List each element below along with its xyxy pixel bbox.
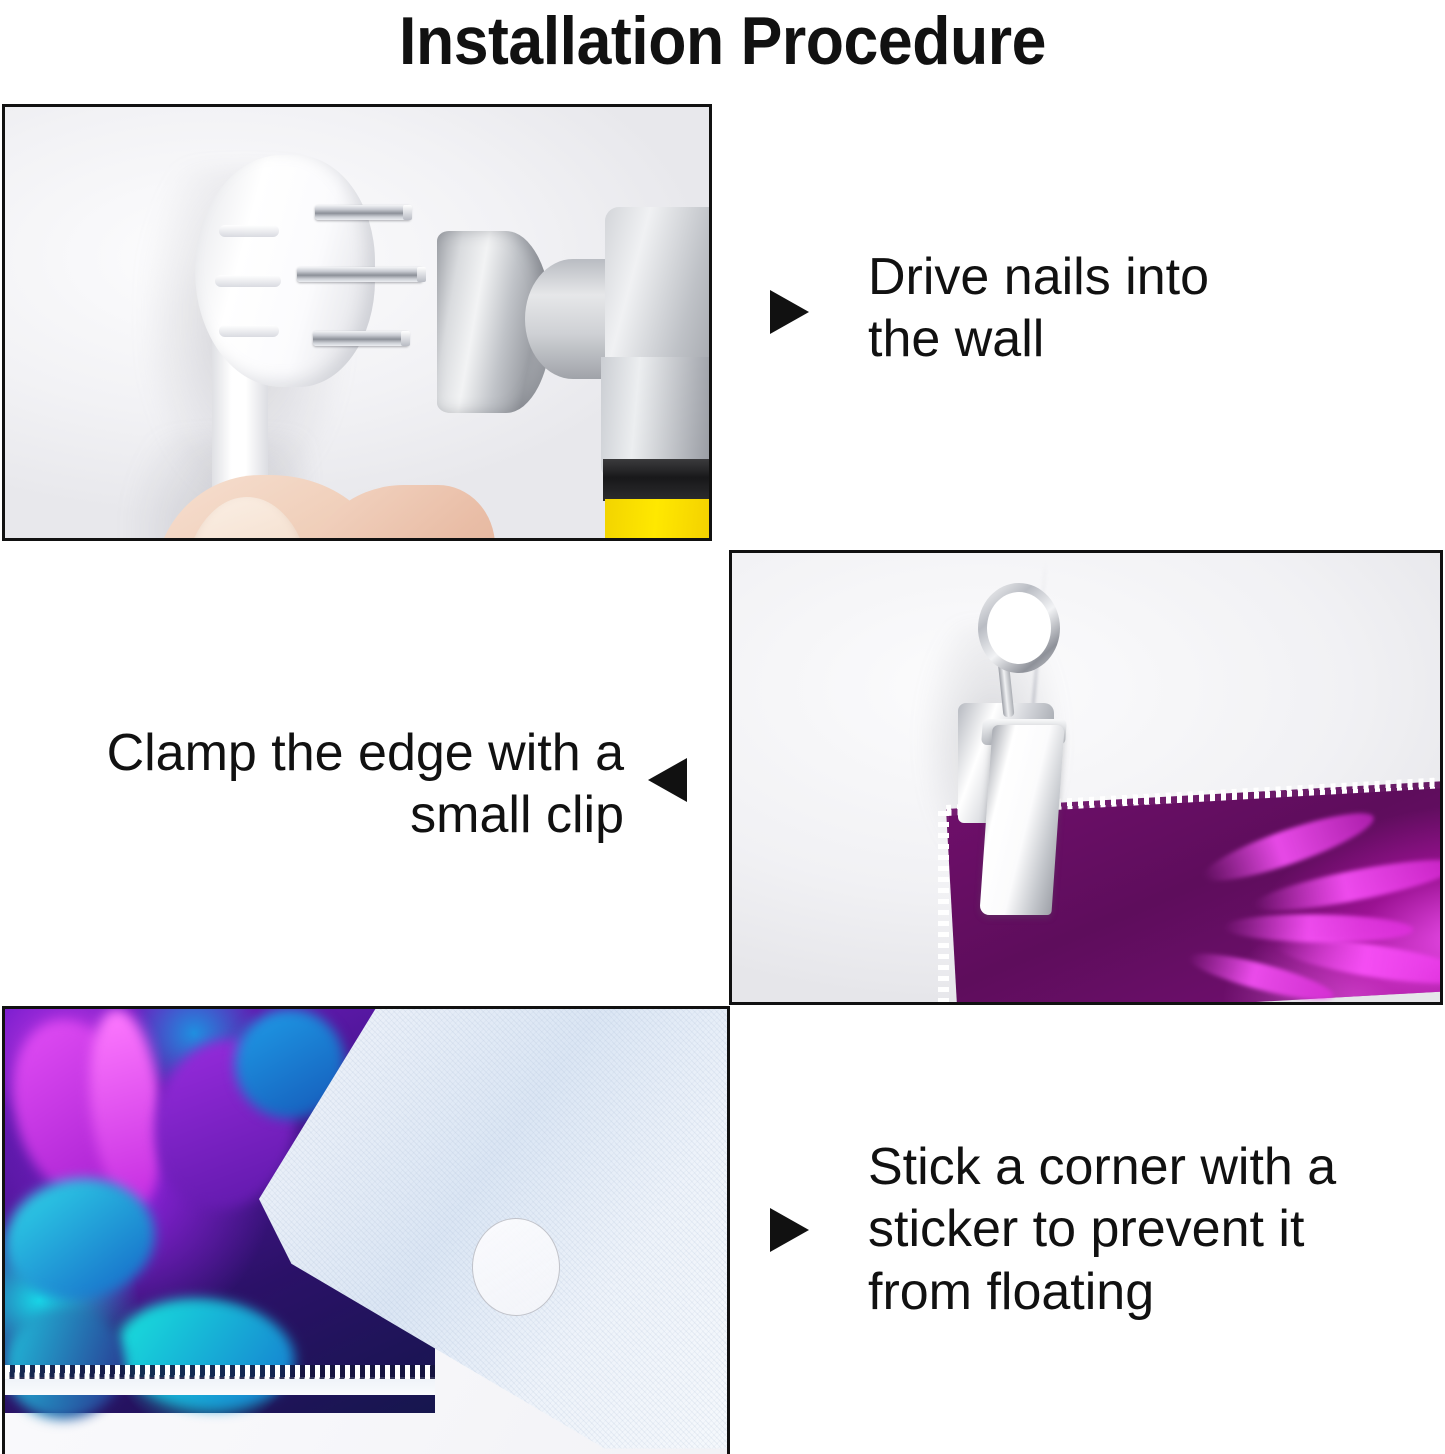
callout-stick-corner-text: Stick a corner with a sticker to prevent… [868, 1136, 1388, 1323]
hammer-handle [605, 499, 712, 541]
page-title: Installation Procedure [58, 2, 1387, 80]
photo-drive-nails [2, 104, 712, 541]
nail-bottom [313, 331, 409, 346]
arrow-right-icon [770, 290, 809, 334]
clip-hanging-ring [978, 583, 1060, 673]
tapestry-hem-band [5, 1377, 435, 1395]
tapestry-hem-stitching [5, 1365, 435, 1379]
hook-ridge [219, 325, 279, 337]
installation-procedure-infographic: Installation Procedure [0, 0, 1445, 1454]
nail-top [315, 205, 411, 220]
nail-middle [297, 267, 423, 282]
photo-stick-corner-content [5, 1009, 727, 1454]
nail-middle-tip [417, 267, 426, 282]
hook-ridge [219, 225, 279, 237]
tapestry-swirl [110, 1290, 301, 1418]
nail-top-tip [403, 205, 412, 220]
tapestry-swirl [2, 1298, 135, 1431]
hammer-ferrule [603, 459, 712, 501]
callout-clamp-edge-text: Clamp the edge with a small clip [46, 722, 624, 847]
adhesive-sticker [472, 1218, 560, 1316]
photo-clamp-edge-content [732, 553, 1440, 1002]
photo-stick-corner [2, 1006, 730, 1454]
arrow-right-icon [770, 1208, 809, 1252]
hook-ridge [215, 275, 281, 287]
callout-drive-nails-text: Drive nails into the wall [868, 246, 1368, 371]
nail-bottom-tip [401, 331, 410, 346]
arrow-left-icon [648, 758, 687, 802]
photo-drive-nails-content [5, 107, 709, 538]
clip-jaw [979, 725, 1064, 915]
tapestry-side-stitching [938, 811, 949, 1005]
photo-clamp-edge [729, 550, 1443, 1005]
